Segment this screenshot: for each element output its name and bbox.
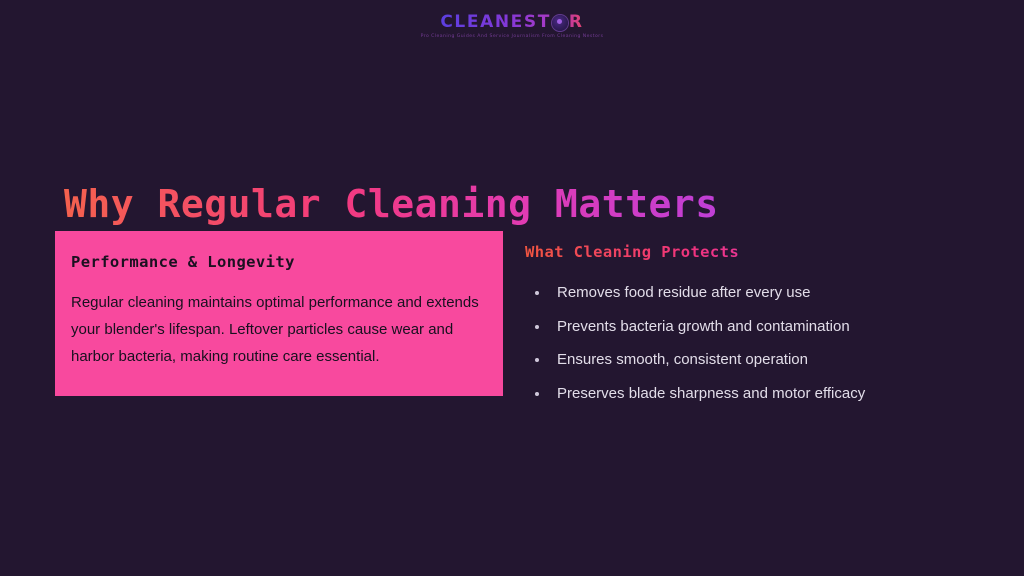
- list-item: Prevents bacteria growth and contaminati…: [525, 317, 969, 336]
- bullet-dot-icon: [535, 291, 539, 295]
- content-columns: Performance & Longevity Regular cleaning…: [55, 231, 969, 403]
- brand-header: CLEANEST R Pro Cleaning Guides And Servi…: [0, 14, 1024, 39]
- protects-bullet-list: Removes food residue after every use Pre…: [525, 283, 969, 403]
- brand-name-part-2: R: [569, 14, 584, 31]
- brand-wordmark: CLEANEST R: [440, 14, 583, 31]
- protects-panel-heading: What Cleaning Protects: [525, 243, 969, 261]
- performance-card-heading: Performance & Longevity: [71, 253, 479, 271]
- bullet-dot-icon: [535, 325, 539, 329]
- performance-card-body: Regular cleaning maintains optimal perfo…: [71, 289, 479, 370]
- bullet-dot-icon: [535, 392, 539, 396]
- list-item-label: Preserves blade sharpness and motor effi…: [557, 385, 865, 402]
- page-title: Why Regular Cleaning Matters: [64, 179, 719, 229]
- brand-name-part-1: CLEANEST: [440, 14, 551, 31]
- list-item: Preserves blade sharpness and motor effi…: [525, 384, 969, 403]
- bullet-dot-icon: [535, 358, 539, 362]
- list-item-label: Ensures smooth, consistent operation: [557, 351, 808, 368]
- performance-card: Performance & Longevity Regular cleaning…: [55, 231, 503, 396]
- brand-tagline: Pro Cleaning Guides And Service Journali…: [421, 34, 604, 39]
- list-item: Ensures smooth, consistent operation: [525, 350, 969, 369]
- list-item: Removes food residue after every use: [525, 283, 969, 302]
- list-item-label: Removes food residue after every use: [557, 284, 810, 301]
- protects-panel: What Cleaning Protects Removes food resi…: [525, 231, 969, 403]
- spray-bottle-circle-icon: [552, 15, 568, 31]
- slide-root: CLEANEST R Pro Cleaning Guides And Servi…: [0, 0, 1024, 576]
- list-item-label: Prevents bacteria growth and contaminati…: [557, 318, 850, 335]
